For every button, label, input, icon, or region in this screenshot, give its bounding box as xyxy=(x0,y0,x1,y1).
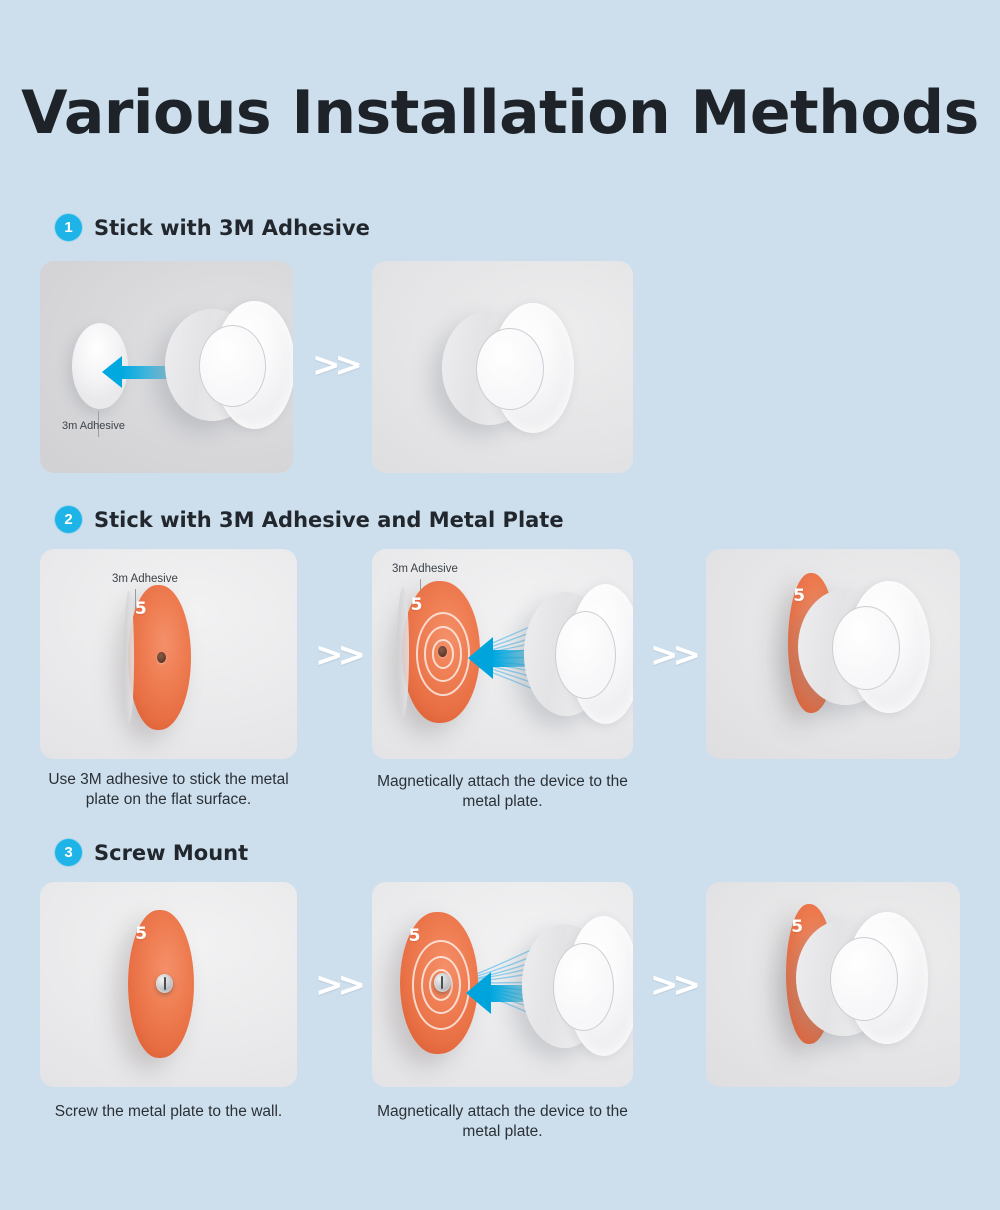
device-button-ring xyxy=(553,943,614,1032)
arrow-head-icon xyxy=(468,637,493,679)
device-puck xyxy=(165,301,293,429)
plate-adhesive-edge xyxy=(124,591,134,724)
device-button-ring xyxy=(830,937,898,1021)
caption-3-2: Magnetically attach the device to the me… xyxy=(372,1102,633,1143)
arrow-head-icon xyxy=(466,972,491,1014)
device-button-ring xyxy=(832,606,900,690)
device-puck-mounted xyxy=(798,581,930,713)
caption-3-1: Screw the metal plate to the wall. xyxy=(40,1102,297,1122)
panel-1-2 xyxy=(372,261,633,473)
screw-icon xyxy=(156,974,173,993)
step-separator-chevron-icon: >> xyxy=(315,968,360,1002)
step-heading-1: 1 Stick with 3M Adhesive xyxy=(55,214,370,241)
step-heading-3: 3 Screw Mount xyxy=(55,839,248,866)
device-button-ring xyxy=(199,325,266,406)
panel-2-2: 3m Adhesive 5 xyxy=(372,549,633,759)
step-badge-2: 2 xyxy=(55,506,82,533)
panel-2-1: 3m Adhesive 5 xyxy=(40,549,297,759)
panel-3-2: 5 xyxy=(372,882,633,1087)
panel-3-3: 5 xyxy=(706,882,960,1087)
step-separator-chevron-icon: >> xyxy=(650,638,695,672)
adhesive-label: 3m Adhesive xyxy=(62,420,125,432)
step-separator-chevron-icon: >> xyxy=(650,968,695,1002)
plate-center-dimple xyxy=(157,652,166,663)
device-puck-mounted xyxy=(442,303,574,433)
step-title-2: Stick with 3M Adhesive and Metal Plate xyxy=(94,508,564,532)
step-badge-1: 1 xyxy=(55,214,82,241)
panel-1-1: 3m Adhesive xyxy=(40,261,293,473)
device-button-ring xyxy=(555,611,616,700)
adhesive-label: 3m Adhesive xyxy=(392,563,458,575)
arrow-head-icon xyxy=(102,356,122,388)
metal-plate-screwed: 5 xyxy=(128,910,194,1058)
caption-2-2: Magnetically attach the device to the me… xyxy=(372,772,633,813)
step-badge-3: 3 xyxy=(55,839,82,866)
panel-3-1: 5 xyxy=(40,882,297,1087)
plate-logo: 5 xyxy=(135,601,147,618)
device-button-ring xyxy=(476,328,544,411)
step-title-3: Screw Mount xyxy=(94,841,248,865)
page-title: Various Installation Methods xyxy=(0,78,1000,148)
device-puck xyxy=(524,584,633,724)
caption-2-1: Use 3M adhesive to stick the metal plate… xyxy=(40,770,297,811)
panel-2-3: 5 xyxy=(706,549,960,759)
metal-plate: 5 xyxy=(128,585,191,730)
screw-icon xyxy=(434,973,451,992)
step-separator-chevron-icon: >> xyxy=(315,638,360,672)
infographic-page: Various Installation Methods 1 Stick wit… xyxy=(0,0,1000,1210)
device-puck-mounted xyxy=(796,912,928,1044)
step-separator-chevron-icon: >> xyxy=(312,348,357,382)
plate-logo: 5 xyxy=(135,926,147,943)
device-puck xyxy=(522,916,633,1056)
adhesive-label: 3m Adhesive xyxy=(112,573,178,585)
step-title-1: Stick with 3M Adhesive xyxy=(94,216,370,240)
step-heading-2: 2 Stick with 3M Adhesive and Metal Plate xyxy=(55,506,564,533)
